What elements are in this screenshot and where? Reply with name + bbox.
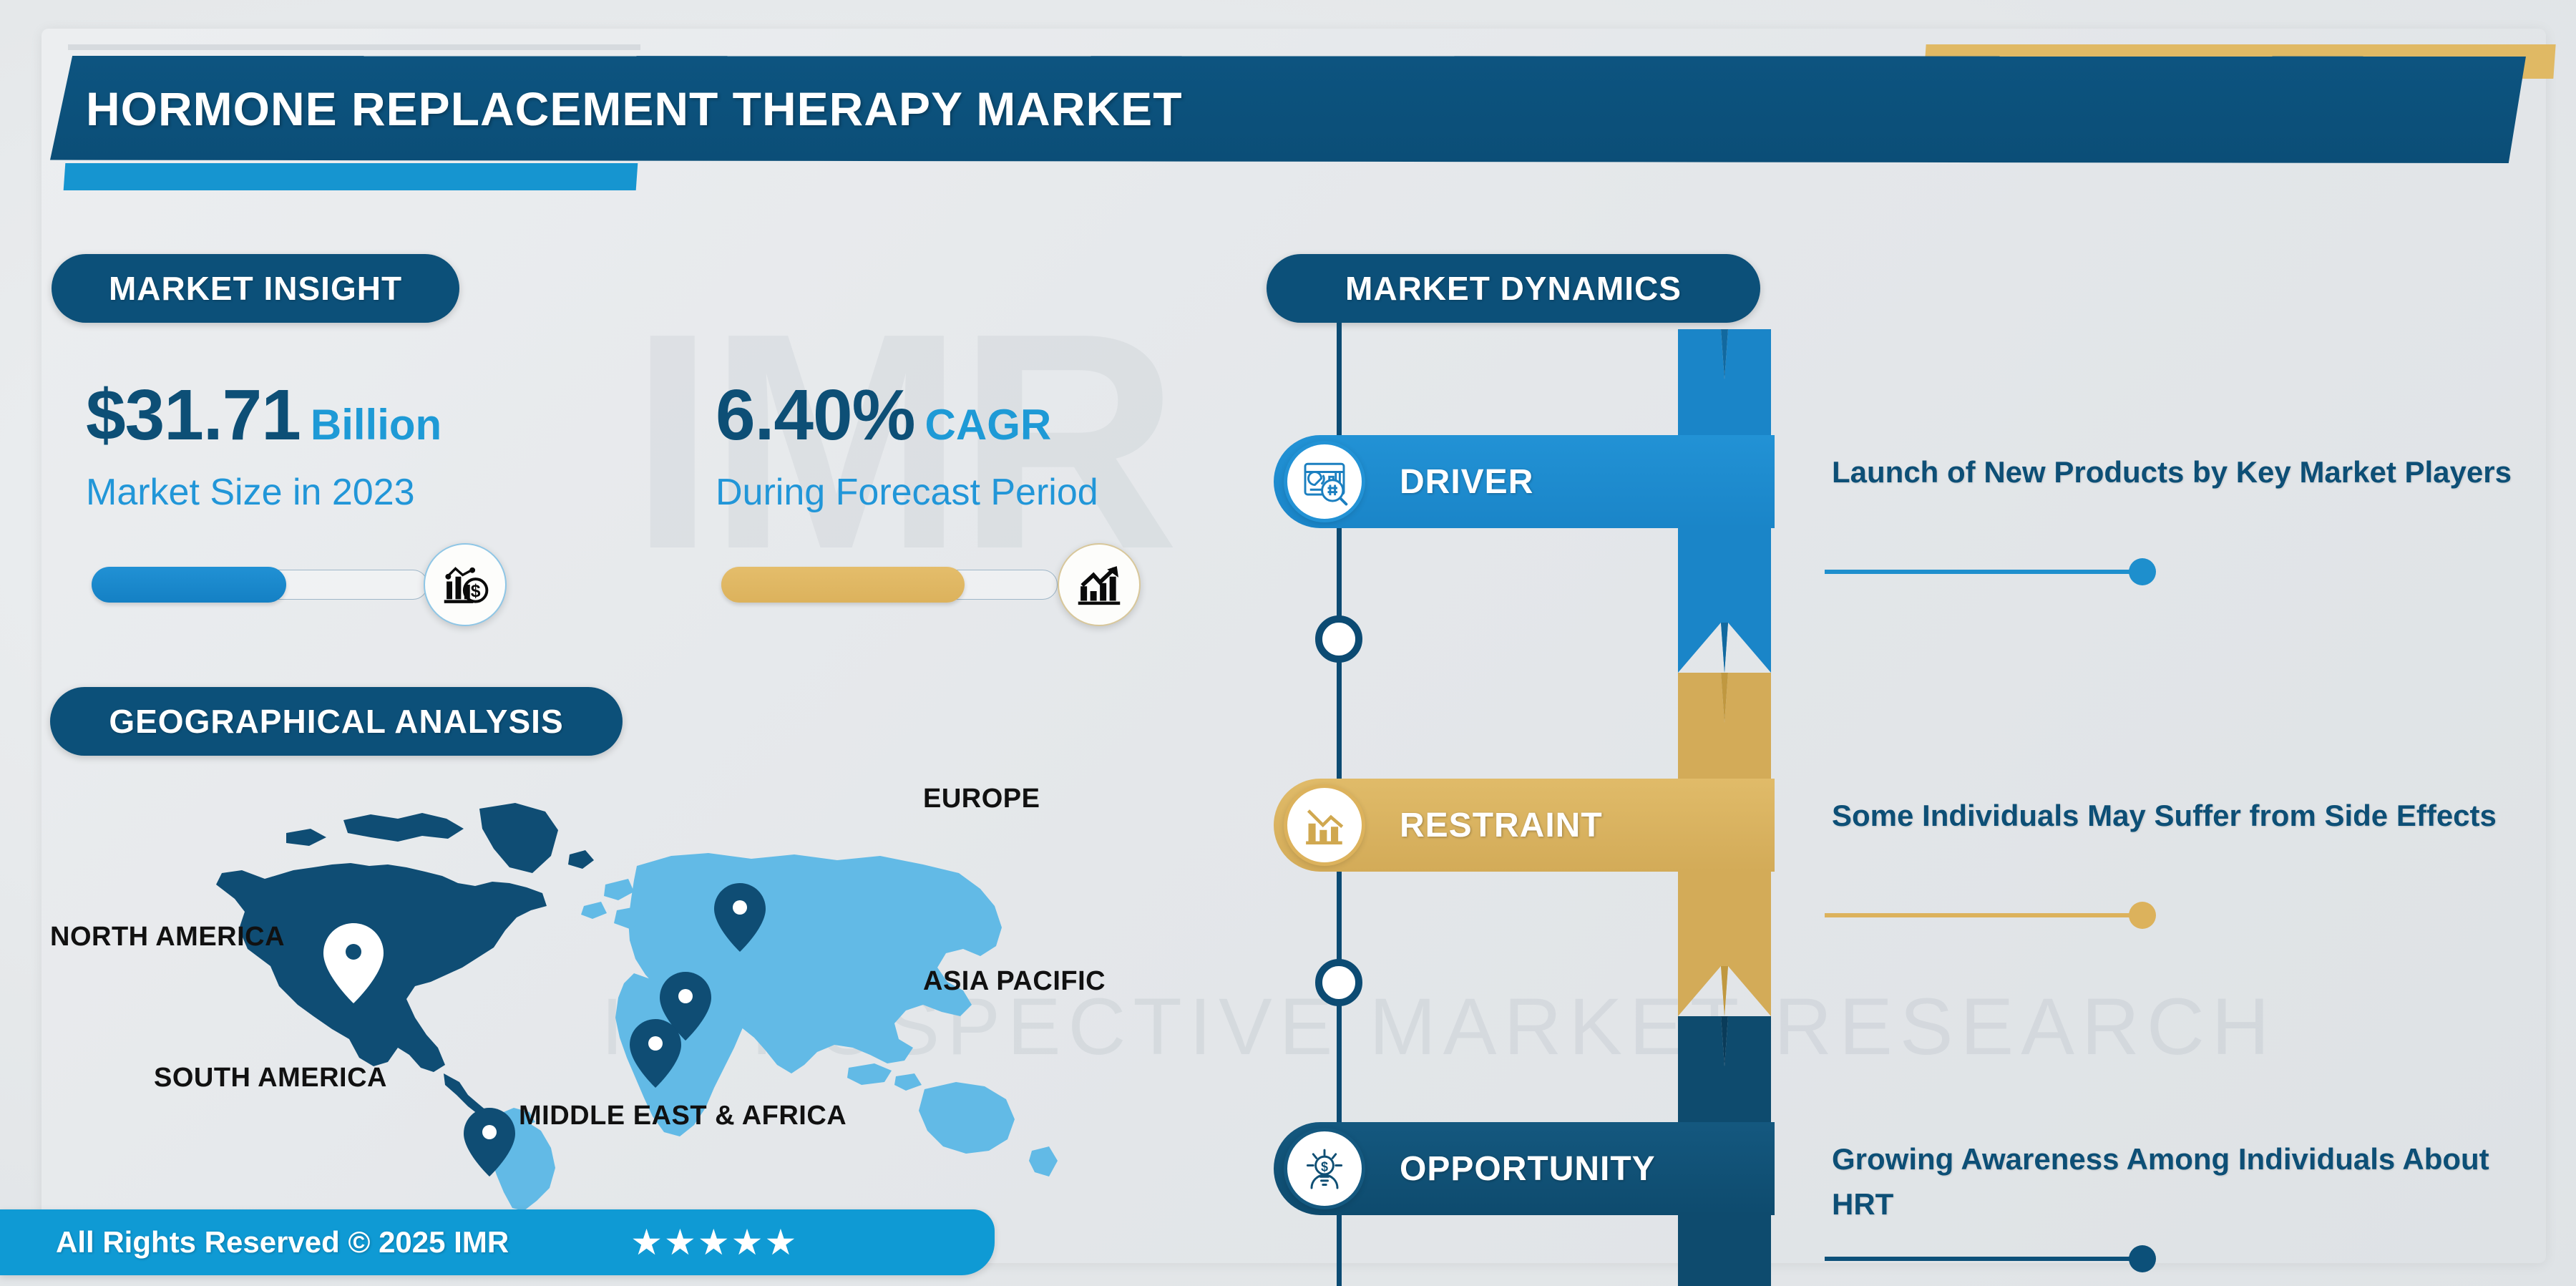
driver-end-dot [2129, 558, 2156, 585]
svg-text:$: $ [471, 582, 481, 601]
svg-text:$: $ [1321, 1159, 1328, 1174]
infographic-canvas: IMR INTROSPECTIVE MARKET RESEARCH HORMON… [0, 0, 2576, 1286]
dynamics-item-opportunity: $ OPPORTUNITY Growing Awareness Among In… [1274, 1016, 2576, 1286]
opportunity-description: Growing Awareness Among Individuals Abou… [1832, 1136, 2512, 1227]
stat-value: 6.40% [716, 379, 915, 451]
dynamics-item-restraint: RESTRAINT Some Individuals May Suffer fr… [1274, 673, 2576, 1016]
lightbulb-dollar-icon: $ [1284, 1128, 1365, 1209]
dynamics-item-driver: DRIVER Launch of New Products by Key Mar… [1274, 329, 2576, 673]
market-insight-heading: MARKET INSIGHT [52, 254, 459, 323]
map-label-north-america: NORTH AMERICA [50, 922, 285, 953]
restraint-label: RESTRAINT [1400, 806, 1603, 845]
rating-stars: ★★★★★ [630, 1222, 798, 1263]
restraint-ribbon: RESTRAINT [1274, 779, 1775, 872]
top-grey-accent-bar [68, 44, 640, 50]
opportunity-end-dot [2129, 1245, 2156, 1272]
opportunity-label: OPPORTUNITY [1400, 1149, 1656, 1189]
restraint-description: Some Individuals May Suffer from Side Ef… [1832, 793, 2512, 838]
geographical-analysis-heading: GEOGRAPHICAL ANALYSIS [50, 687, 623, 756]
driver-label: DRIVER [1400, 462, 1533, 502]
restraint-end-dot [2129, 902, 2156, 929]
title-banner: HORMONE REPLACEMENT THERAPY MARKET [50, 56, 2526, 163]
bar-chart-dollar-icon: $ [424, 543, 507, 626]
map-label-middle-east-africa: MIDDLE EAST & AFRICA [519, 1101, 847, 1131]
growth-arrow-chart-icon [1058, 543, 1141, 626]
market-size-progress-bar: $ [92, 567, 428, 603]
stat-unit: CAGR [925, 400, 1052, 449]
stat-caption: Market Size in 2023 [86, 471, 441, 514]
map-label-south-america: SOUTH AMERICA [154, 1063, 387, 1093]
driver-leader-line [1825, 570, 2140, 574]
restraint-leader-line [1825, 913, 2140, 917]
copyright-text: All Rights Reserved © 2025 IMR [56, 1225, 509, 1260]
analytics-dashboard-search-icon [1284, 441, 1365, 522]
map-label-europe: EUROPE [923, 784, 1040, 814]
progress-fill [92, 567, 286, 603]
declining-bar-chart-icon [1284, 784, 1365, 866]
footer-bar: All Rights Reserved © 2025 IMR ★★★★★ [0, 1209, 995, 1275]
cagr-progress-bar [721, 567, 1058, 603]
title-underline-bar [64, 163, 638, 190]
stat-caption: During Forecast Period [716, 471, 1098, 514]
opportunity-ribbon: $ OPPORTUNITY [1274, 1122, 1775, 1215]
stat-market-size: $31.71Billion Market Size in 2023 [86, 379, 441, 514]
market-dynamics-heading: MARKET DYNAMICS [1267, 254, 1760, 323]
driver-description: Launch of New Products by Key Market Pla… [1832, 449, 2512, 495]
opportunity-leader-line [1825, 1257, 2140, 1261]
stat-value: $31.71 [86, 379, 301, 451]
driver-ribbon: DRIVER [1274, 435, 1775, 528]
map-label-asia-pacific: ASIA PACIFIC [923, 966, 1106, 997]
stat-cagr: 6.40%CAGR During Forecast Period [716, 379, 1098, 514]
progress-fill [721, 567, 965, 603]
page-title: HORMONE REPLACEMENT THERAPY MARKET [86, 82, 1183, 136]
stat-unit: Billion [311, 400, 441, 449]
